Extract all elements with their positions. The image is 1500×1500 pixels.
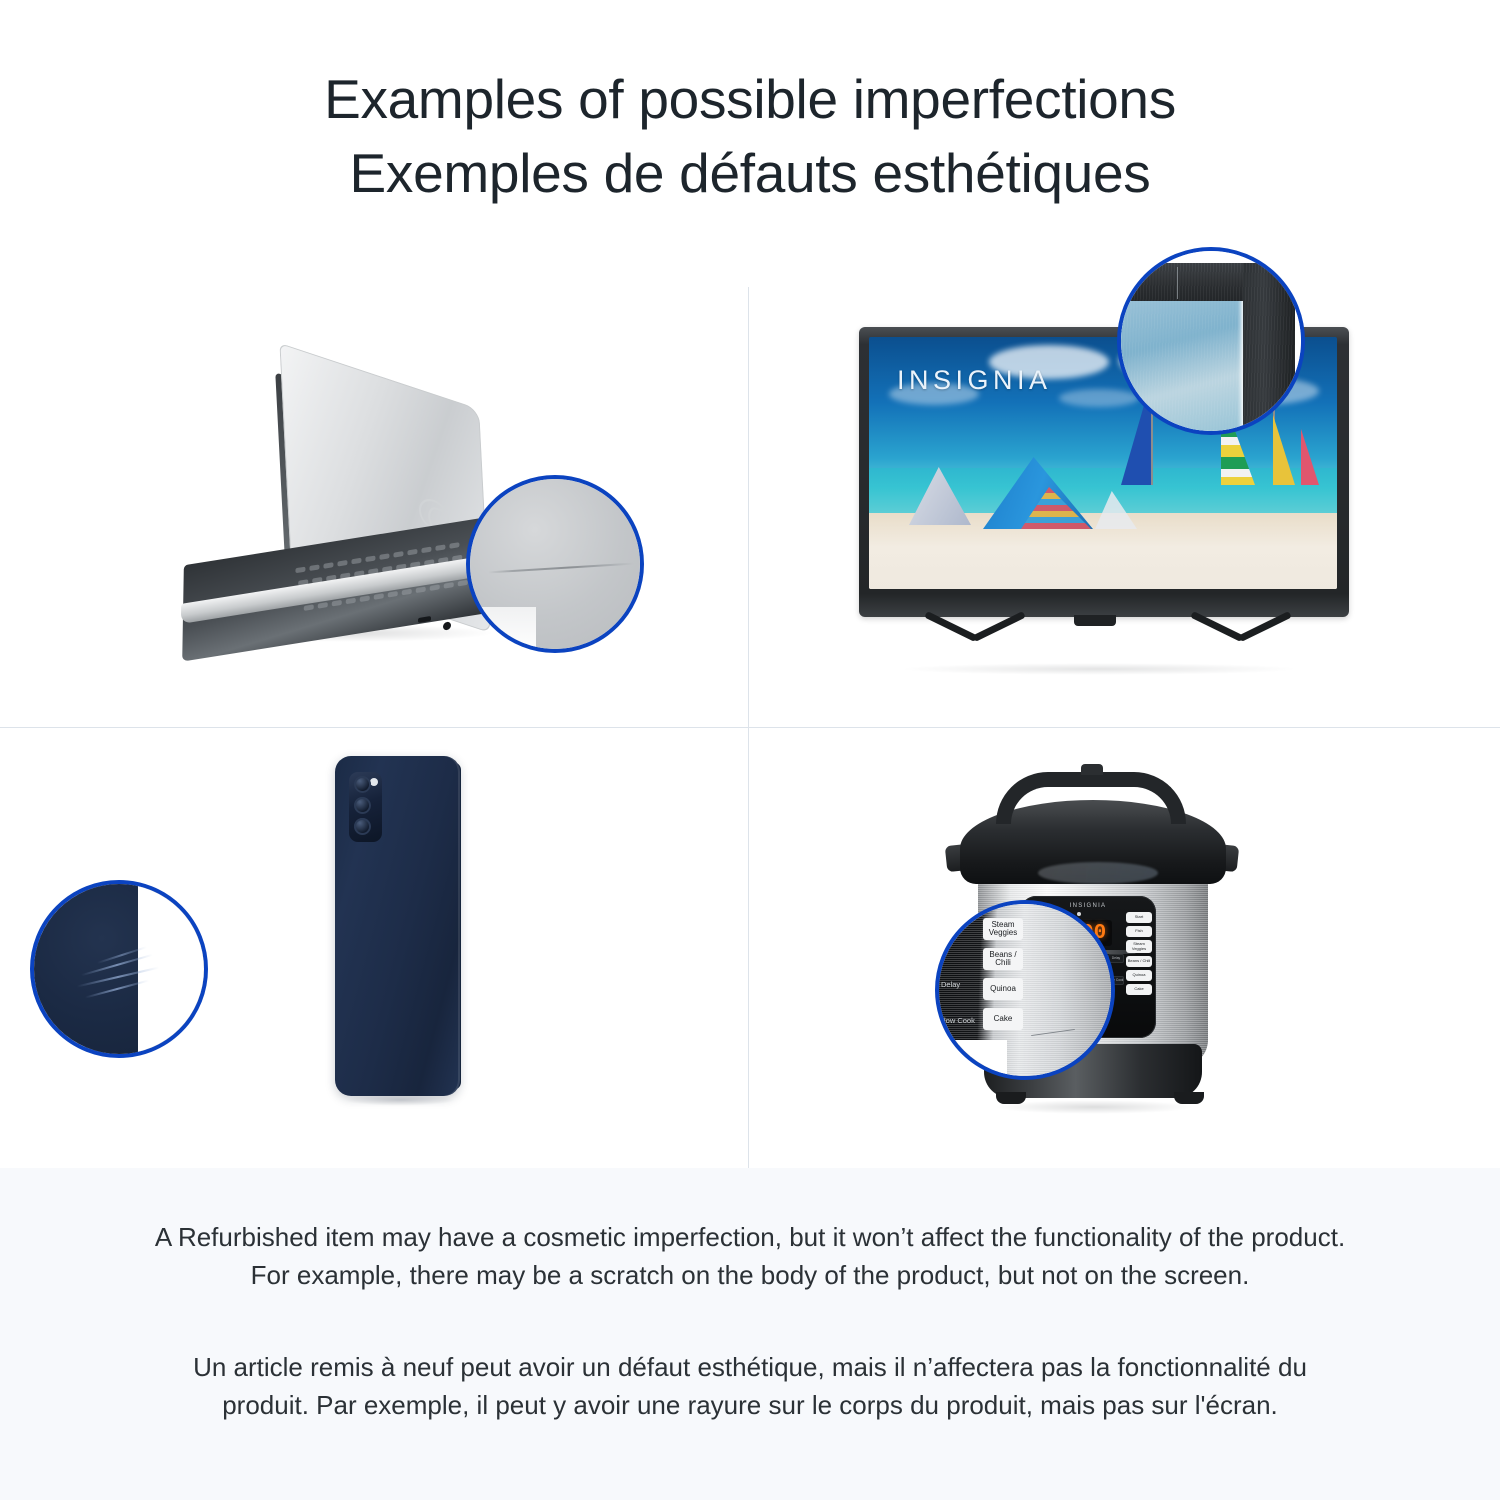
cooker-magnifier-corner-mask <box>935 1040 1007 1080</box>
disclaimer-french: Un article remis à neuf peut avoir un dé… <box>150 1348 1350 1424</box>
phone-camera-lens-2 <box>354 797 371 814</box>
tv-brand-logo: INSIGNIA <box>897 365 1052 396</box>
phone-camera-lens-1 <box>354 776 371 793</box>
cooker-shadow <box>994 1100 1194 1114</box>
laptop-magnifier-corner-mask <box>466 607 536 653</box>
refurbished-imperfections-infographic: Examples of possible imperfections Exemp… <box>0 0 1500 1500</box>
panel-pressure-cooker: INSIGNIA 8:00 ManualKeep WarmDelaySteamS… <box>749 728 1500 1168</box>
phone-scratch-magnifier <box>30 880 208 1058</box>
magnified-button-quinoa: Quinoa <box>983 978 1023 1000</box>
product-examples-grid: INSIGNIA <box>0 287 1500 1168</box>
cooker-button-steam-veggies: Steam Veggies <box>1126 940 1152 953</box>
magnified-button-beans-chili: Beans / Chili <box>983 948 1023 970</box>
cooker-button-quinoa: Quinoa <box>1126 970 1152 981</box>
tv-scratch-mark <box>1177 267 1178 299</box>
cooker-lid-handle <box>996 772 1186 824</box>
tv-center-nub <box>1074 615 1116 626</box>
panel-tv: INSIGNIA <box>749 287 1500 727</box>
cooker-button-beans-chili: Beans / Chili <box>1126 956 1152 967</box>
cooker-foot-left <box>996 1092 1026 1104</box>
tv-magnified-grain <box>1117 263 1295 435</box>
cooker-foot-right <box>1174 1092 1204 1104</box>
tv-scratch-magnifier <box>1117 247 1305 435</box>
cooker-scratch-magnifier: Steam Veggies Beans / Chili Quinoa Cake … <box>935 900 1115 1080</box>
cooker-button-cake: Cake <box>1126 984 1152 995</box>
phone-camera-module <box>349 772 382 842</box>
footer-disclaimer: A Refurbished item may have a cosmetic i… <box>0 1168 1500 1500</box>
panel-phone <box>0 728 748 1168</box>
phone-illustration <box>0 728 748 1168</box>
cooker-lid-highlight <box>1038 862 1158 884</box>
tv-illustration: INSIGNIA <box>749 287 1500 727</box>
page-title: Examples of possible imperfections Exemp… <box>0 62 1500 210</box>
laptop-illustration <box>0 287 748 727</box>
cooker-button-fish: Fish <box>1126 926 1152 937</box>
title-french: Exemples de défauts esthétiques <box>0 136 1500 210</box>
magnified-darkbutton-delay: Delay <box>941 980 960 989</box>
magnified-button-cake: Cake <box>983 1008 1023 1030</box>
cooker-pressure-valve-icon <box>1081 764 1103 775</box>
laptop-scratch-magnifier <box>466 475 644 653</box>
panel-laptop <box>0 287 748 727</box>
phone-flash-icon <box>370 778 378 786</box>
disclaimer-english: A Refurbished item may have a cosmetic i… <box>150 1218 1350 1294</box>
title-english: Examples of possible imperfections <box>0 62 1500 136</box>
phone-camera-lens-3 <box>354 818 371 835</box>
cooker-illustration: INSIGNIA 8:00 ManualKeep WarmDelaySteamS… <box>749 728 1500 1168</box>
tv-shadow <box>899 663 1299 675</box>
cooker-button-start: Start <box>1126 912 1152 923</box>
magnified-button-steam-veggies: Steam Veggies <box>983 918 1023 940</box>
magnified-darkbutton-slow-cook: Slow Cook <box>939 1016 975 1025</box>
cooker-buttons-right: StartFishSteam VeggiesBeans / ChiliQuino… <box>1126 912 1152 995</box>
